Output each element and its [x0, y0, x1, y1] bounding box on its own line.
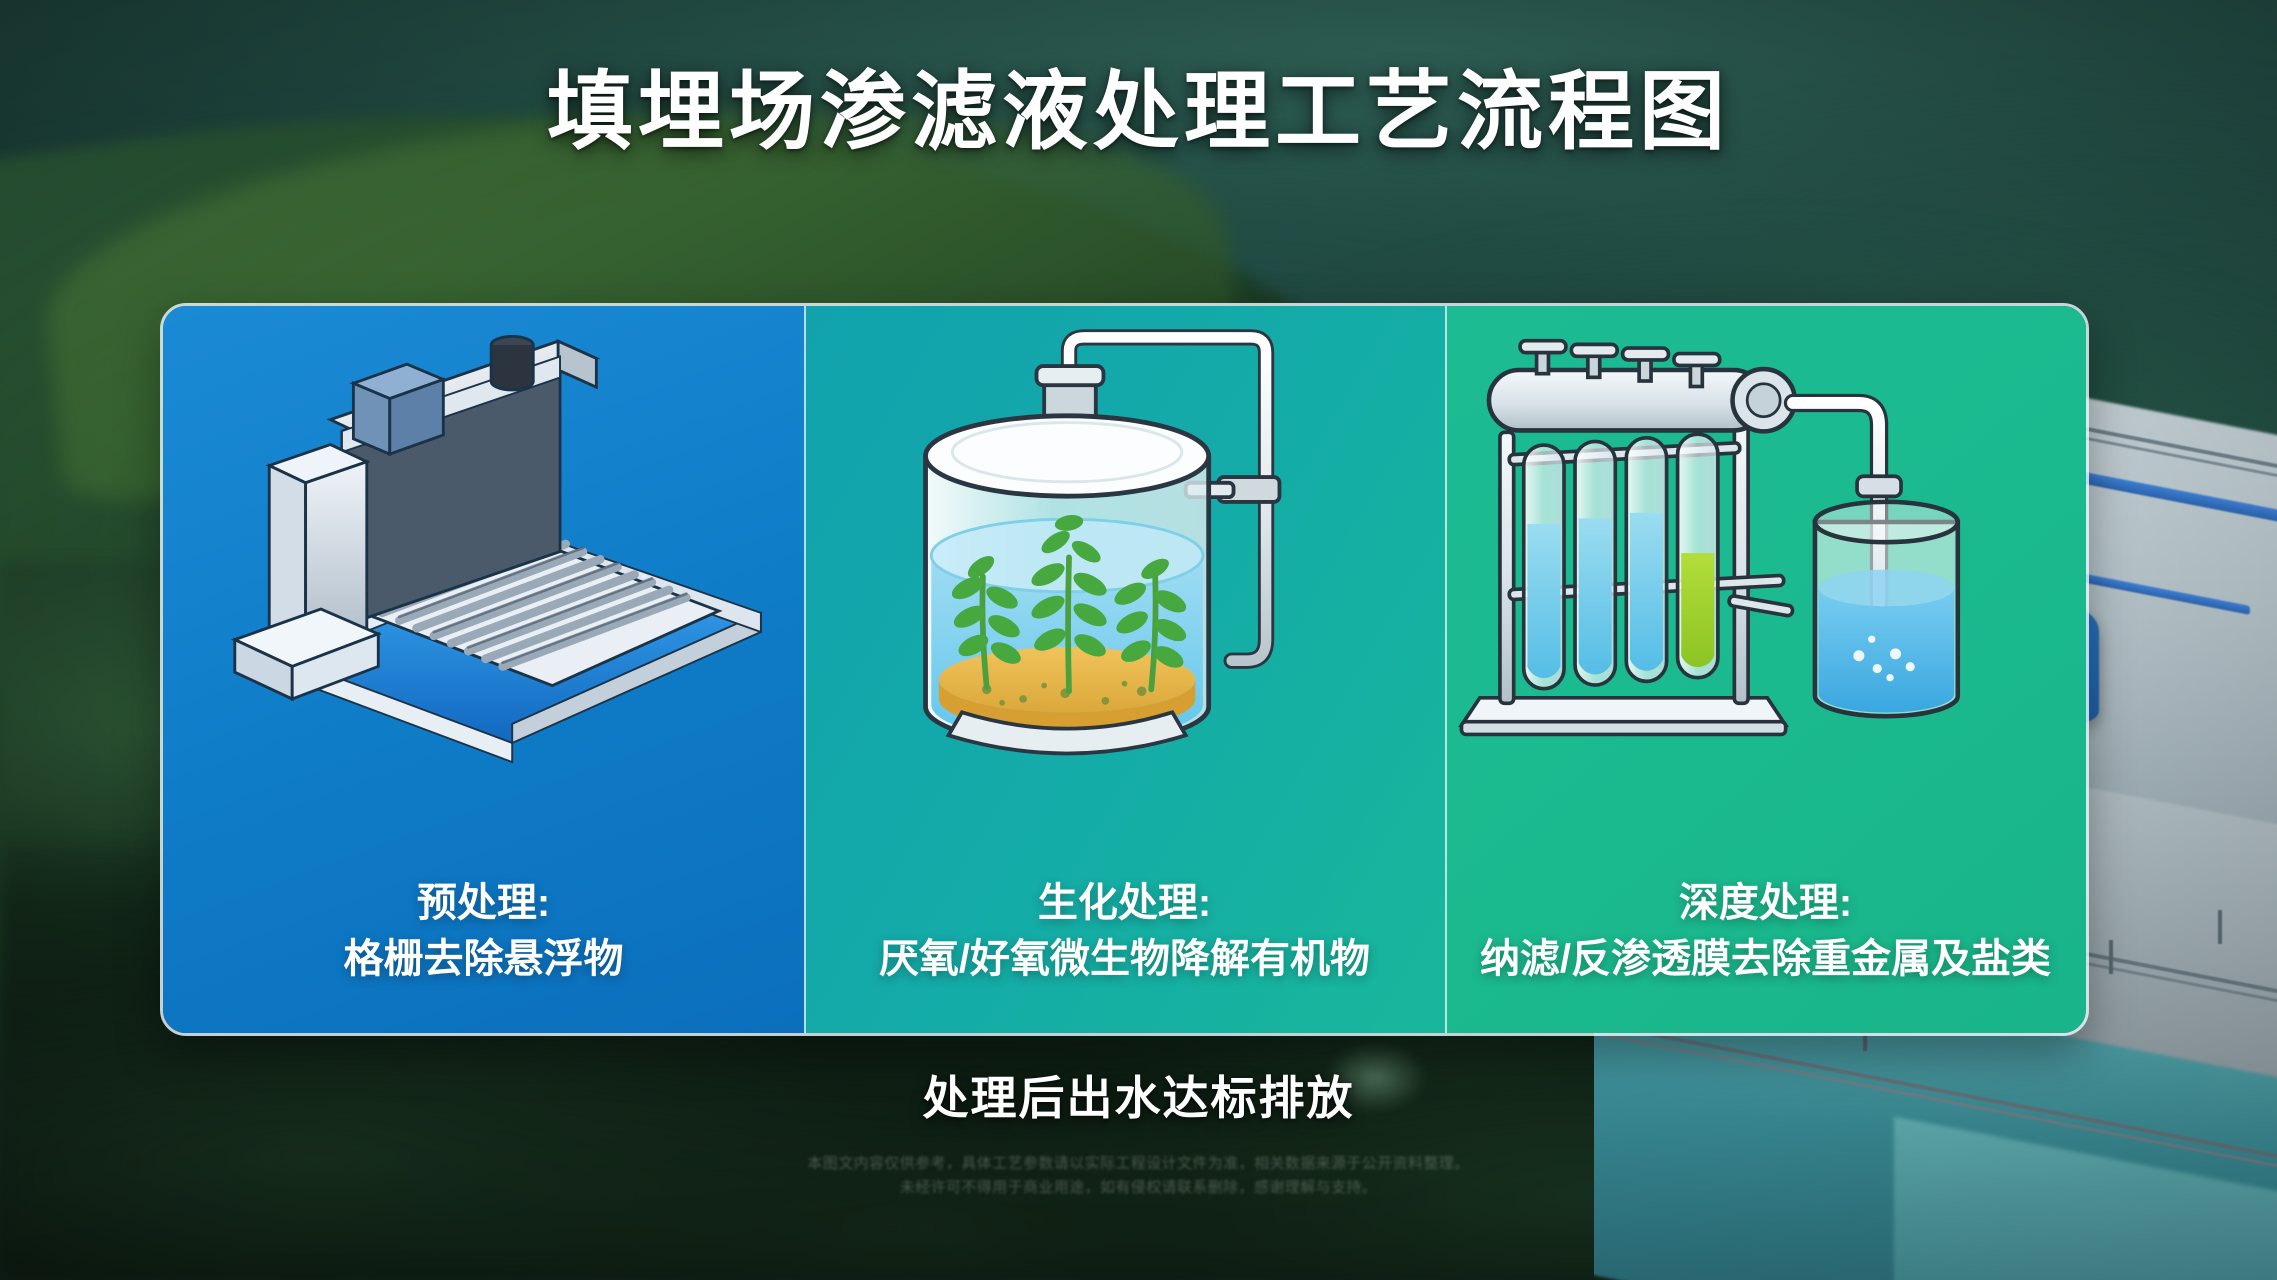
- card-biochemical-caption: 生化处理: 厌氧/好氧微生物降解有机物: [804, 877, 1445, 985]
- card-pretreatment-body: 格栅去除悬浮物: [163, 933, 804, 985]
- page-title: 填埋场渗滤液处理工艺流程图: [0, 64, 2277, 160]
- card-pretreatment-caption: 预处理: 格栅去除悬浮物: [163, 877, 804, 985]
- infographic-stage: 填埋场渗滤液处理工艺流程图: [0, 0, 2277, 1280]
- card-advanced-body: 纳滤/反渗透膜去除重金属及盐类: [1445, 933, 2086, 985]
- card-biochemical[interactable]: 生化处理: 厌氧/好氧微生物降解有机物: [804, 306, 1445, 1033]
- watermark-line-1: 本图文内容仅供参考，具体工艺参数请以实际工程设计文件为准，相关数据来源于公开资料…: [0, 1152, 2277, 1176]
- card-biochemical-body: 厌氧/好氧微生物降解有机物: [804, 933, 1445, 985]
- card-pretreatment[interactable]: 预处理: 格栅去除悬浮物: [163, 306, 804, 1033]
- card-biochemical-heading: 生化处理:: [804, 877, 1445, 929]
- footer-note: 处理后出水达标排放: [0, 1062, 2277, 1128]
- card-advanced[interactable]: 深度处理: 纳滤/反渗透膜去除重金属及盐类: [1445, 306, 2086, 1033]
- membrane-filtration-icon: [1445, 324, 2086, 764]
- bar-screen-icon: [163, 324, 804, 764]
- watermark-line-2: 未经许可不得用于商业用途，如有侵权请联系删除，感谢理解与支持。: [0, 1176, 2277, 1200]
- bioreactor-tank-icon: [804, 324, 1445, 764]
- process-flow-panel: 预处理: 格栅去除悬浮物: [160, 303, 2089, 1036]
- card-advanced-caption: 深度处理: 纳滤/反渗透膜去除重金属及盐类: [1445, 877, 2086, 985]
- card-advanced-heading: 深度处理:: [1445, 877, 2086, 929]
- watermark-disclaimer: 本图文内容仅供参考，具体工艺参数请以实际工程设计文件为准，相关数据来源于公开资料…: [0, 1152, 2277, 1200]
- card-pretreatment-heading: 预处理:: [163, 877, 804, 929]
